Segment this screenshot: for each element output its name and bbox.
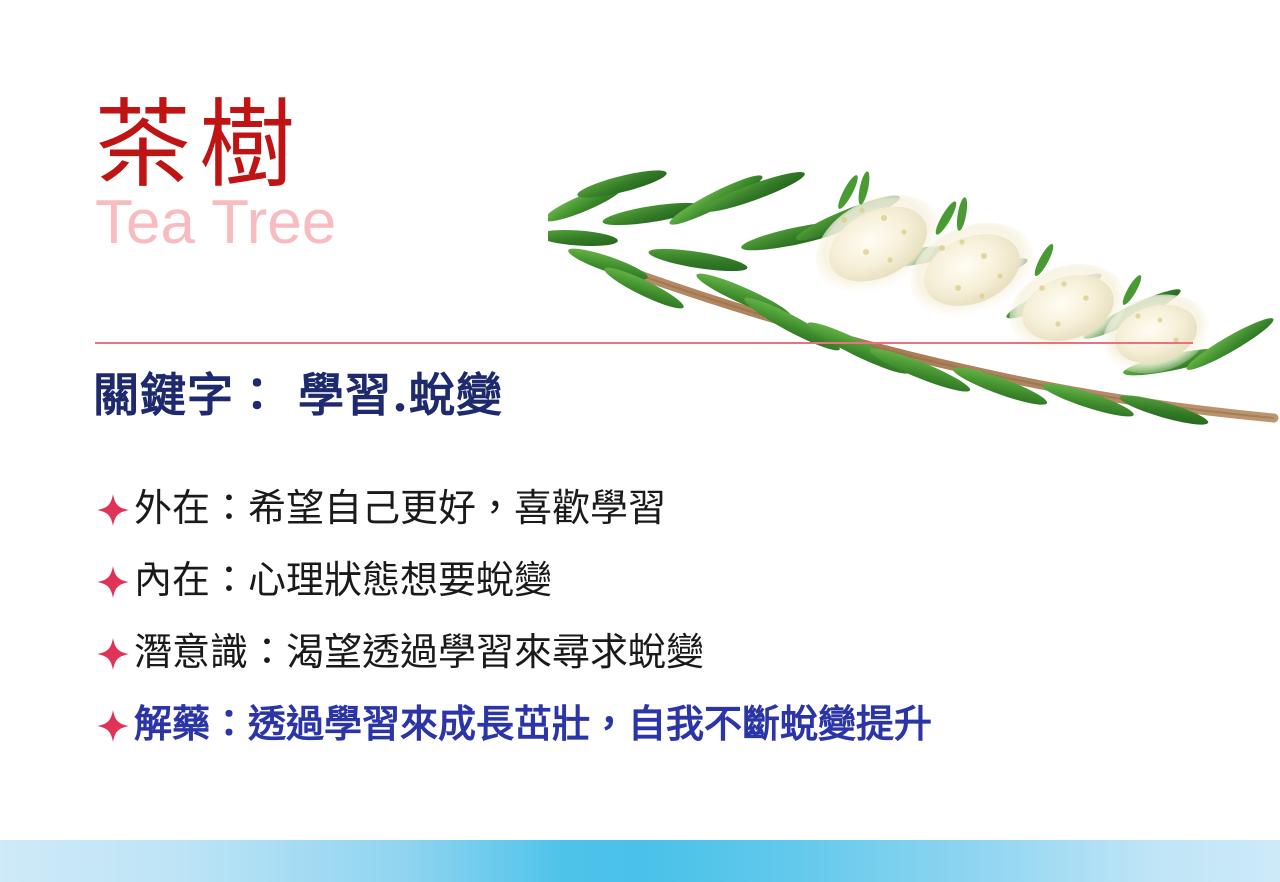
- sparkle-bullet-icon: [96, 709, 130, 743]
- page-title-en: Tea Tree: [95, 192, 715, 254]
- sparkle-bullet-icon: [96, 565, 130, 599]
- list-item-label: 外在：希望自己更好，喜歡學習: [134, 487, 666, 531]
- list-item-label: 解藥：透過學習來成長茁壯，自我不斷蛻變提升: [134, 703, 932, 747]
- footer-gradient-bar: [0, 840, 1280, 882]
- title-divider: [95, 342, 1193, 344]
- title-block: 茶樹 Tea Tree: [95, 96, 715, 254]
- list-item-label: 潛意識：渴望透過學習來尋求蛻變: [134, 631, 704, 675]
- page-title-cn: 茶樹: [95, 96, 715, 196]
- list-item-label: 內在：心理狀態想要蛻變: [134, 559, 552, 603]
- slide-canvas: 茶樹 Tea Tree 關鍵字： 學習.蛻變 外在：希望自己更好，喜歡學習 內在…: [0, 0, 1280, 882]
- sparkle-bullet-icon: [96, 637, 130, 671]
- list-item-emphasis: 解藥：透過學習來成長茁壯，自我不斷蛻變提升: [96, 689, 1216, 761]
- keyword-line: 關鍵字： 學習.蛻變: [93, 368, 503, 423]
- list-item: 外在：希望自己更好，喜歡學習: [96, 473, 1216, 545]
- list-item: 潛意識：渴望透過學習來尋求蛻變: [96, 617, 1216, 689]
- list-item: 內在：心理狀態想要蛻變: [96, 545, 1216, 617]
- bullet-list: 外在：希望自己更好，喜歡學習 內在：心理狀態想要蛻變 潛意識：渴望透過學習來尋求…: [96, 473, 1216, 761]
- sparkle-bullet-icon: [96, 493, 130, 527]
